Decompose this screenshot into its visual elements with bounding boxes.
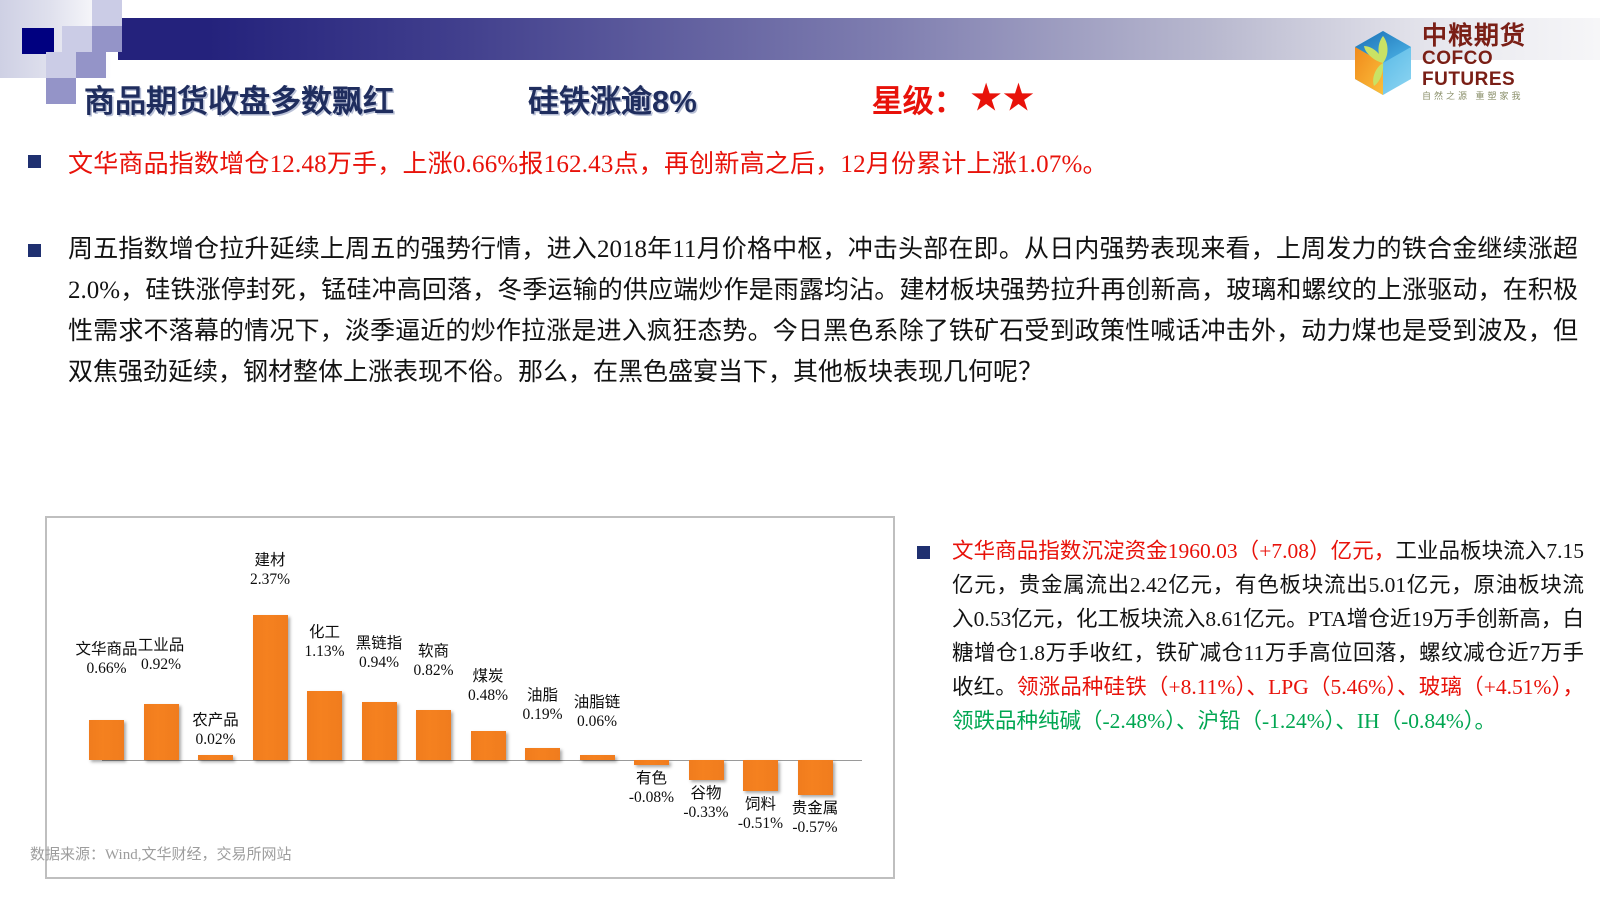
chart-bar — [471, 731, 506, 760]
chart-value-label: 0.92% — [116, 655, 206, 674]
page-title: 商品期货收盘多数飘红 — [84, 76, 394, 121]
logo-chinese-name: 中粮期货 — [1422, 23, 1592, 49]
chart-plot-area: 文华商品0.66%工业品0.92%农产品0.02%建材2.37%化工1.13%黑… — [47, 518, 897, 881]
logo-slogan: 自然之源 重塑家我 — [1422, 91, 1592, 103]
top-gainers-text: 领涨品种硅铁（+8.11%）、LPG（5.46%）、玻璃（+4.51%）， — [1017, 675, 1584, 699]
chart-bar-label: 油脂链0.06% — [552, 693, 642, 731]
chart-bar-label: 农产品0.02% — [171, 711, 261, 749]
chart-category-label: 软商 — [389, 642, 479, 661]
sector-performance-chart: 文华商品0.66%工业品0.92%农产品0.02%建材2.37%化工1.13%黑… — [45, 516, 895, 879]
cofco-logo: 中粮期货 COFCO FUTURES 自然之源 重塑家我 — [1352, 22, 1592, 104]
chart-bar — [198, 755, 233, 760]
chart-source-note: 数据来源：Wind,文华财经，交易所网站 — [30, 843, 291, 864]
chart-bar — [580, 755, 615, 760]
page-title-row: 商品期货收盘多数飘红 硅铁涨逾8% 星级： ★★ — [84, 74, 1314, 122]
chart-bar — [89, 720, 124, 760]
chart-bar — [416, 710, 451, 760]
logo-text-block: 中粮期货 COFCO FUTURES 自然之源 重塑家我 — [1422, 23, 1592, 103]
chart-value-label: 0.02% — [171, 730, 261, 749]
chart-bar — [525, 748, 560, 760]
star-rating-label: 星级： — [872, 76, 965, 121]
fund-flow-note: 文华商品指数沉淀资金1960.03（+7.08）亿元，工业品板块流入7.15亿元… — [952, 534, 1584, 738]
deco-square-4 — [46, 52, 76, 78]
chart-category-label: 工业品 — [116, 636, 206, 655]
body-paragraph: 周五指数增仓拉升延续上周五的强势行情，进入2018年11月价格中枢，冲击头部在即… — [68, 229, 1578, 393]
chart-category-label: 贵金属 — [770, 799, 860, 818]
chart-bar — [743, 760, 778, 791]
chart-bar — [634, 760, 669, 765]
chart-bar — [307, 691, 342, 760]
chart-bar-label: 工业品0.92% — [116, 636, 206, 674]
chart-category-label: 煤炭 — [443, 667, 533, 686]
chart-value-label: 2.37% — [225, 570, 315, 589]
deco-square-3 — [92, 26, 122, 52]
chart-bar-label: 贵金属-0.57% — [770, 799, 860, 837]
fund-flow-headline: 文华商品指数沉淀资金1960.03（+7.08）亿元， — [952, 539, 1395, 563]
chart-bar — [798, 760, 833, 795]
star-rating-icons: ★★ — [971, 78, 1036, 118]
deco-square-6 — [46, 78, 76, 104]
chart-bar-label: 建材2.37% — [225, 551, 315, 589]
bullet-marker-sidenote — [917, 546, 930, 559]
logo-english-name: COFCO FUTURES — [1422, 49, 1592, 91]
chart-category-label: 油脂链 — [552, 693, 642, 712]
page-subtitle: 硅铁涨逾8% — [528, 76, 697, 121]
bullet-marker-highlight — [28, 155, 41, 168]
highlight-paragraph: 文华商品指数增仓12.48万手，上涨0.66%报162.43点，再创新高之后，1… — [68, 144, 1578, 180]
deco-square-1 — [92, 0, 122, 26]
deco-square-navy — [22, 28, 54, 54]
deco-square-2 — [62, 26, 92, 52]
cofco-cube-logo-icon — [1352, 28, 1414, 98]
chart-value-label: -0.57% — [770, 818, 860, 837]
top-losers-text: 领跌品种纯碱（-2.48%）、沪铅（-1.24%）、IH（-0.84%）。 — [952, 709, 1496, 733]
chart-bar — [362, 702, 397, 760]
chart-category-label: 农产品 — [171, 711, 261, 730]
chart-bar — [689, 760, 724, 780]
chart-category-label: 建材 — [225, 551, 315, 570]
chart-value-label: 0.06% — [552, 712, 642, 731]
bullet-marker-body — [28, 244, 41, 257]
